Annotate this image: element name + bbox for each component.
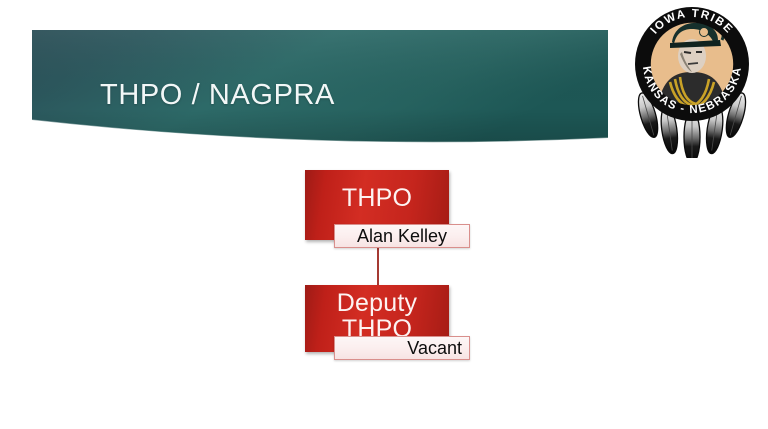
org-node-deputy-thpo-name: Vacant: [407, 338, 462, 359]
iowa-tribe-seal-logo: IOWA TRIBE KANSAS - NEBRASKA: [618, 2, 766, 158]
org-node-thpo-title: THPO: [305, 186, 449, 212]
org-node-thpo-name-label[interactable]: Alan Kelley: [334, 224, 470, 248]
org-node-deputy-thpo-title-line1: Deputy: [305, 291, 449, 317]
org-node-thpo-name: Alan Kelley: [357, 226, 447, 247]
org-node-deputy-thpo-name-label[interactable]: Vacant: [334, 336, 470, 360]
slide-canvas: THPO / NAGPRA: [0, 0, 768, 429]
connector-thpo-to-deputy: [377, 248, 379, 285]
org-node-deputy-thpo-title: Deputy THPO: [305, 291, 449, 342]
page-title: THPO / NAGPRA: [100, 79, 335, 112]
